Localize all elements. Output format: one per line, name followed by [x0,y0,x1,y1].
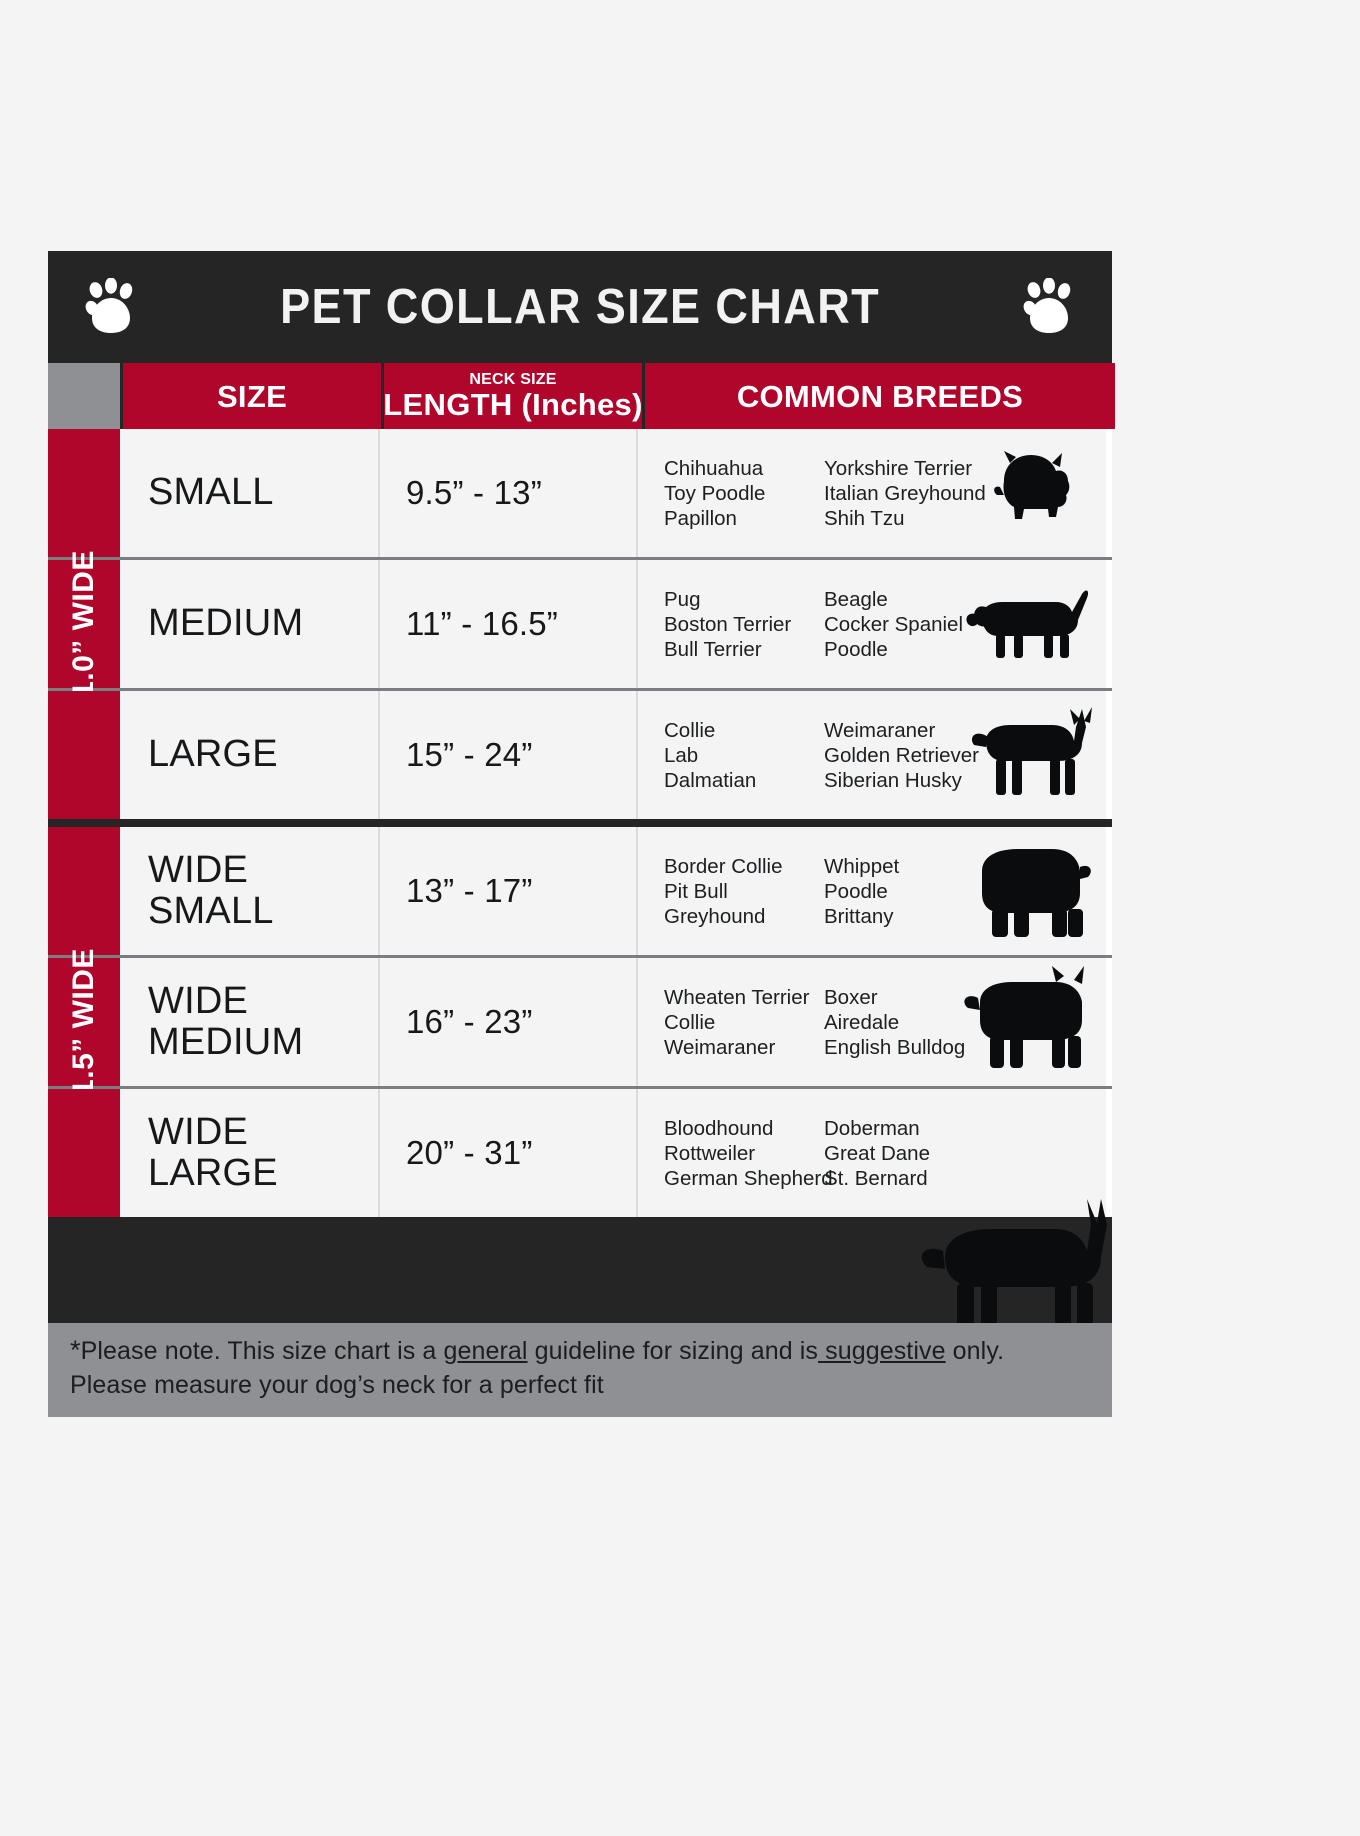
breed-item: Boxer [824,985,974,1010]
breed-column-1: Wheaten Terrier Collie Weimaraner [664,985,824,1060]
breed-column-1: Pug Boston Terrier Bull Terrier [664,587,824,662]
breed-item: Rottweiler [664,1141,824,1166]
breed-item: Collie [664,1010,824,1035]
breed-item: Doberman [824,1116,974,1141]
cell-size: WIDE LARGE [120,1089,378,1217]
breed-item: Poodle [824,637,974,662]
breed-column-1: Collie Lab Dalmatian [664,718,824,793]
cell-length: 9.5” - 13” [378,429,636,557]
column-header-size-label: SIZE [217,381,287,412]
breed-item: Poodle [824,879,974,904]
breed-item: Papillon [664,506,824,531]
corner-cell [48,363,120,429]
breed-column-2: Boxer Airedale English Bulldog [824,985,974,1060]
cell-length: 11” - 16.5” [378,560,636,688]
breed-item: Yorkshire Terrier [824,456,974,481]
breed-item: St. Bernard [824,1166,974,1191]
breed-item: Wheaten Terrier [664,985,824,1010]
breed-item: Siberian Husky [824,768,974,793]
cell-length: 20” - 31” [378,1089,636,1217]
table-row: 1.0” WIDE MEDIUM 11” - 16.5” Pug Boston … [48,560,1112,688]
breed-item: Chihuahua [664,456,824,481]
breed-item: Airedale [824,1010,974,1035]
breed-item: Great Dane [824,1141,974,1166]
pet-collar-size-chart: PET COLLAR SIZE CHART SIZE [48,251,1112,1323]
breed-item: Italian Greyhound [824,481,974,506]
table-header-row: SIZE NECK SIZE LENGTH (Inches) COMMON BR… [48,363,1112,429]
cell-size: MEDIUM [120,560,378,688]
column-header-neck-size-label: NECK SIZE [469,372,556,388]
breed-column-2: Beagle Cocker Spaniel Poodle [824,587,974,662]
size-label-line1: WIDE [148,850,274,891]
column-header-length-label: LENGTH (Inches) [383,389,642,420]
breed-column-2: Doberman Great Dane St. Bernard [824,1116,974,1191]
group-rail-cell: x [48,691,120,819]
breed-column-1: Border Collie Pit Bull Greyhound [664,854,824,929]
column-header-size: SIZE [123,363,381,429]
page-background: PET COLLAR SIZE CHART SIZE [0,0,1360,1836]
table-row: x SMALL 9.5” - 13” Chihuahua Toy Poodle … [48,429,1112,557]
footer-underline-general: general [443,1337,527,1365]
size-label-line1: SMALL [148,472,274,513]
size-label-line1: WIDE [148,981,303,1022]
breed-item: English Bulldog [824,1035,974,1060]
cell-size: WIDE SMALL [120,827,378,955]
cell-breeds: Chihuahua Toy Poodle Papillon Yorkshire … [636,429,1106,557]
table-row: 1.5” WIDE WIDE MEDIUM 16” - 23” Wheaten … [48,958,1112,1086]
breed-item: Weimaraner [664,1035,824,1060]
cell-breeds: Collie Lab Dalmatian Weimaraner Golden R… [636,691,1106,819]
breed-item: Shih Tzu [824,506,974,531]
group-label-1-5-wide: 1.5” WIDE [67,948,101,1096]
breed-item: Weimaraner [824,718,974,743]
breed-item: Bloodhound [664,1116,824,1141]
page-title: PET COLLAR SIZE CHART [280,279,880,335]
footer-note: *Please note. This size chart is a gener… [48,1323,1112,1417]
size-label-line1: MEDIUM [148,603,303,644]
column-header-breeds: COMMON BREEDS [645,363,1115,429]
breed-item: Pit Bull [664,879,824,904]
cell-size: WIDE MEDIUM [120,958,378,1086]
breed-item: Bull Terrier [664,637,824,662]
size-label-line2: MEDIUM [148,1022,303,1063]
paw-print-icon [1022,278,1076,336]
size-label-line1: LARGE [148,734,278,775]
asterisk: * [70,1335,81,1365]
table-row: x WIDE SMALL 13” - 17” Border Collie Pit… [48,827,1112,955]
cell-size: LARGE [120,691,378,819]
breed-item: Pug [664,587,824,612]
table-row: x LARGE 15” - 24” Collie Lab Dalmatian [48,691,1112,819]
group-separator [48,819,1112,827]
column-header-breeds-label: COMMON BREEDS [737,381,1023,412]
cell-length: 13” - 17” [378,827,636,955]
cell-length: 15” - 24” [378,691,636,819]
breed-item: Golden Retriever [824,743,974,768]
footer-text-c: only. [946,1337,1005,1365]
breed-item: German Shepherd [664,1166,824,1191]
breed-item: Brittany [824,904,974,929]
footer-text-b: guideline for sizing and is [528,1337,818,1365]
group-rail-cell: x [48,429,120,557]
size-label-line1: WIDE [148,1112,278,1153]
table-row: x WIDE LARGE 20” - 31” Bloodhound Rottwe… [48,1089,1112,1217]
column-header-length: NECK SIZE LENGTH (Inches) [384,363,642,429]
breed-column-2: Weimaraner Golden Retriever Siberian Hus… [824,718,974,793]
cell-breeds: Border Collie Pit Bull Greyhound Whippet… [636,827,1106,955]
breed-item: Greyhound [664,904,824,929]
cell-size: SMALL [120,429,378,557]
breed-column-1: Bloodhound Rottweiler German Shepherd [664,1116,824,1191]
size-table: SIZE NECK SIZE LENGTH (Inches) COMMON BR… [48,363,1112,1217]
size-label-line2: SMALL [148,891,274,932]
breed-column-2: Whippet Poodle Brittany [824,854,974,929]
paw-print-icon [84,278,138,336]
cell-breeds: Pug Boston Terrier Bull Terrier Beagle C… [636,560,1106,688]
footer-line-2: Please measure your dog’s neck for a per… [70,1369,1090,1402]
breed-item: Lab [664,743,824,768]
breed-item: Whippet [824,854,974,879]
breed-column-1: Chihuahua Toy Poodle Papillon [664,456,824,531]
group-rail-cell: 1.0” WIDE [48,560,120,688]
breed-column-2: Yorkshire Terrier Italian Greyhound Shih… [824,456,974,531]
group-rail-cell: x [48,827,120,955]
size-label-line2: LARGE [148,1153,278,1194]
breed-item: Boston Terrier [664,612,824,637]
cell-length: 16” - 23” [378,958,636,1086]
breed-item: Border Collie [664,854,824,879]
breed-item: Beagle [824,587,974,612]
group-rail-cell: x [48,1089,120,1217]
breed-item: Toy Poodle [664,481,824,506]
group-rail-cell: 1.5” WIDE [48,958,120,1086]
breed-item: Dalmatian [664,768,824,793]
cell-breeds: Bloodhound Rottweiler German Shepherd Do… [636,1089,1106,1217]
footer-underline-suggestive: suggestive [818,1337,946,1365]
footer-line-1: *Please note. This size chart is a gener… [70,1333,1090,1369]
breed-item: Cocker Spaniel [824,612,974,637]
breed-item: Collie [664,718,824,743]
group-label-1-0-wide: 1.0” WIDE [67,550,101,698]
footer-text-a: Please note. This size chart is a [81,1337,444,1365]
chart-header: PET COLLAR SIZE CHART [48,251,1112,363]
cell-breeds: Wheaten Terrier Collie Weimaraner Boxer … [636,958,1106,1086]
